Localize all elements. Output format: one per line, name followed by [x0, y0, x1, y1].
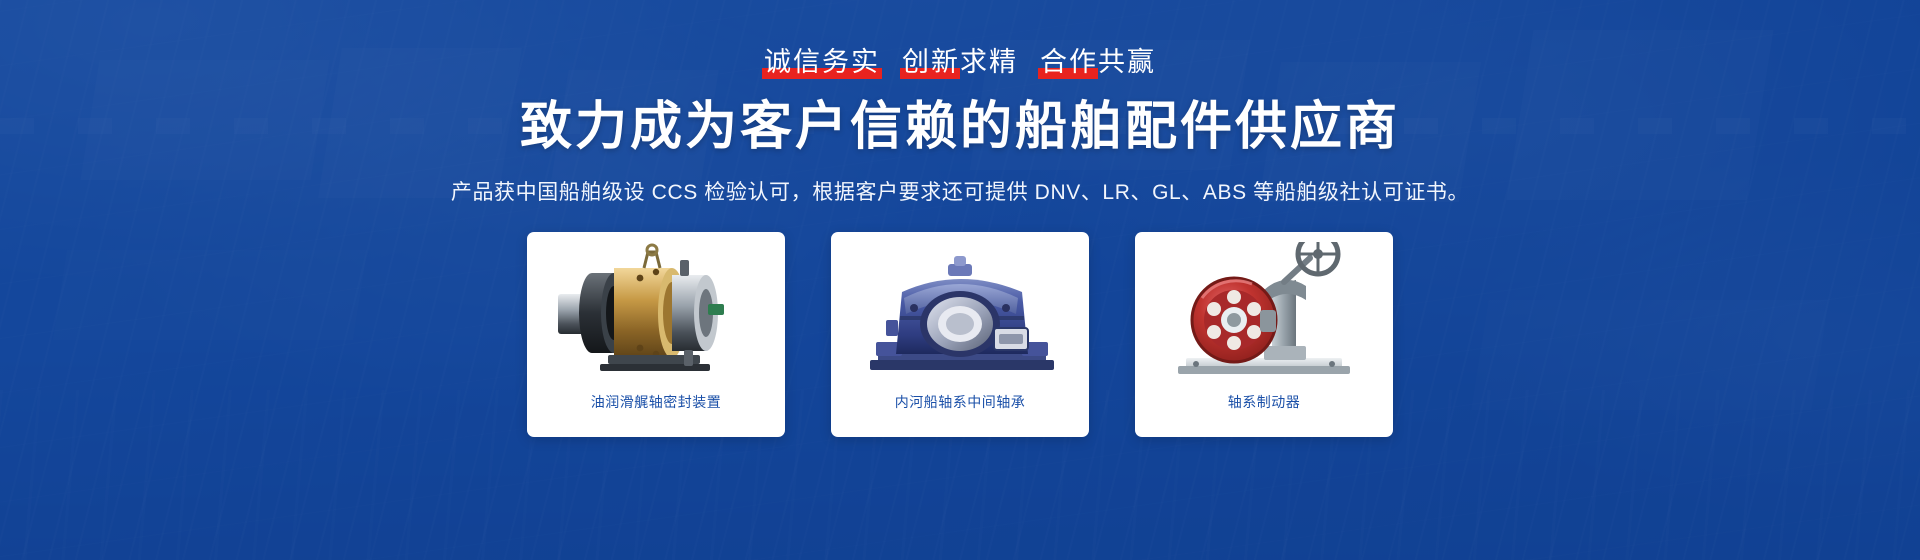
- banner-content: 诚信务实 创新求精 合作共赢 致力成为客户信赖的船舶配件供应商 产品获中国船舶级…: [0, 0, 1920, 560]
- page-title: 致力成为客户信赖的船舶配件供应商: [520, 94, 1400, 161]
- product-card-caption: 轴系制动器: [1228, 392, 1301, 412]
- tagline: 诚信务实 创新求精 合作共赢: [762, 46, 1158, 80]
- intermediate-bearing-icon: [855, 242, 1065, 384]
- tagline-text-2: 创新求精: [902, 47, 1018, 77]
- tagline-text-1: 诚信务实: [764, 47, 880, 77]
- hero-banner: 诚信务实 创新求精 合作共赢 致力成为客户信赖的船舶配件供应商 产品获中国船舶级…: [0, 0, 1920, 560]
- product-card[interactable]: 油润滑艉轴密封装置: [527, 232, 785, 437]
- tagline-text-3: 合作共赢: [1040, 47, 1156, 77]
- tagline-segment-3: 合作共赢: [1038, 46, 1158, 80]
- product-card[interactable]: 内河船轴系中间轴承: [831, 232, 1089, 437]
- product-card[interactable]: 轴系制动器: [1135, 232, 1393, 437]
- product-card-list: 油润滑艉轴密封装置: [527, 232, 1393, 437]
- tagline-segment-1: 诚信务实: [762, 46, 882, 80]
- banner-subtitle: 产品获中国船舶级设 CCS 检验认可，根据客户要求还可提供 DNV、LR、GL、…: [451, 176, 1469, 206]
- product-card-caption: 油润滑艉轴密封装置: [591, 392, 722, 412]
- shaft-brake-icon: [1159, 242, 1369, 384]
- stern-tube-seal-icon: [551, 242, 761, 384]
- tagline-segment-2: 创新求精: [900, 46, 1020, 80]
- product-card-caption: 内河船轴系中间轴承: [895, 392, 1026, 412]
